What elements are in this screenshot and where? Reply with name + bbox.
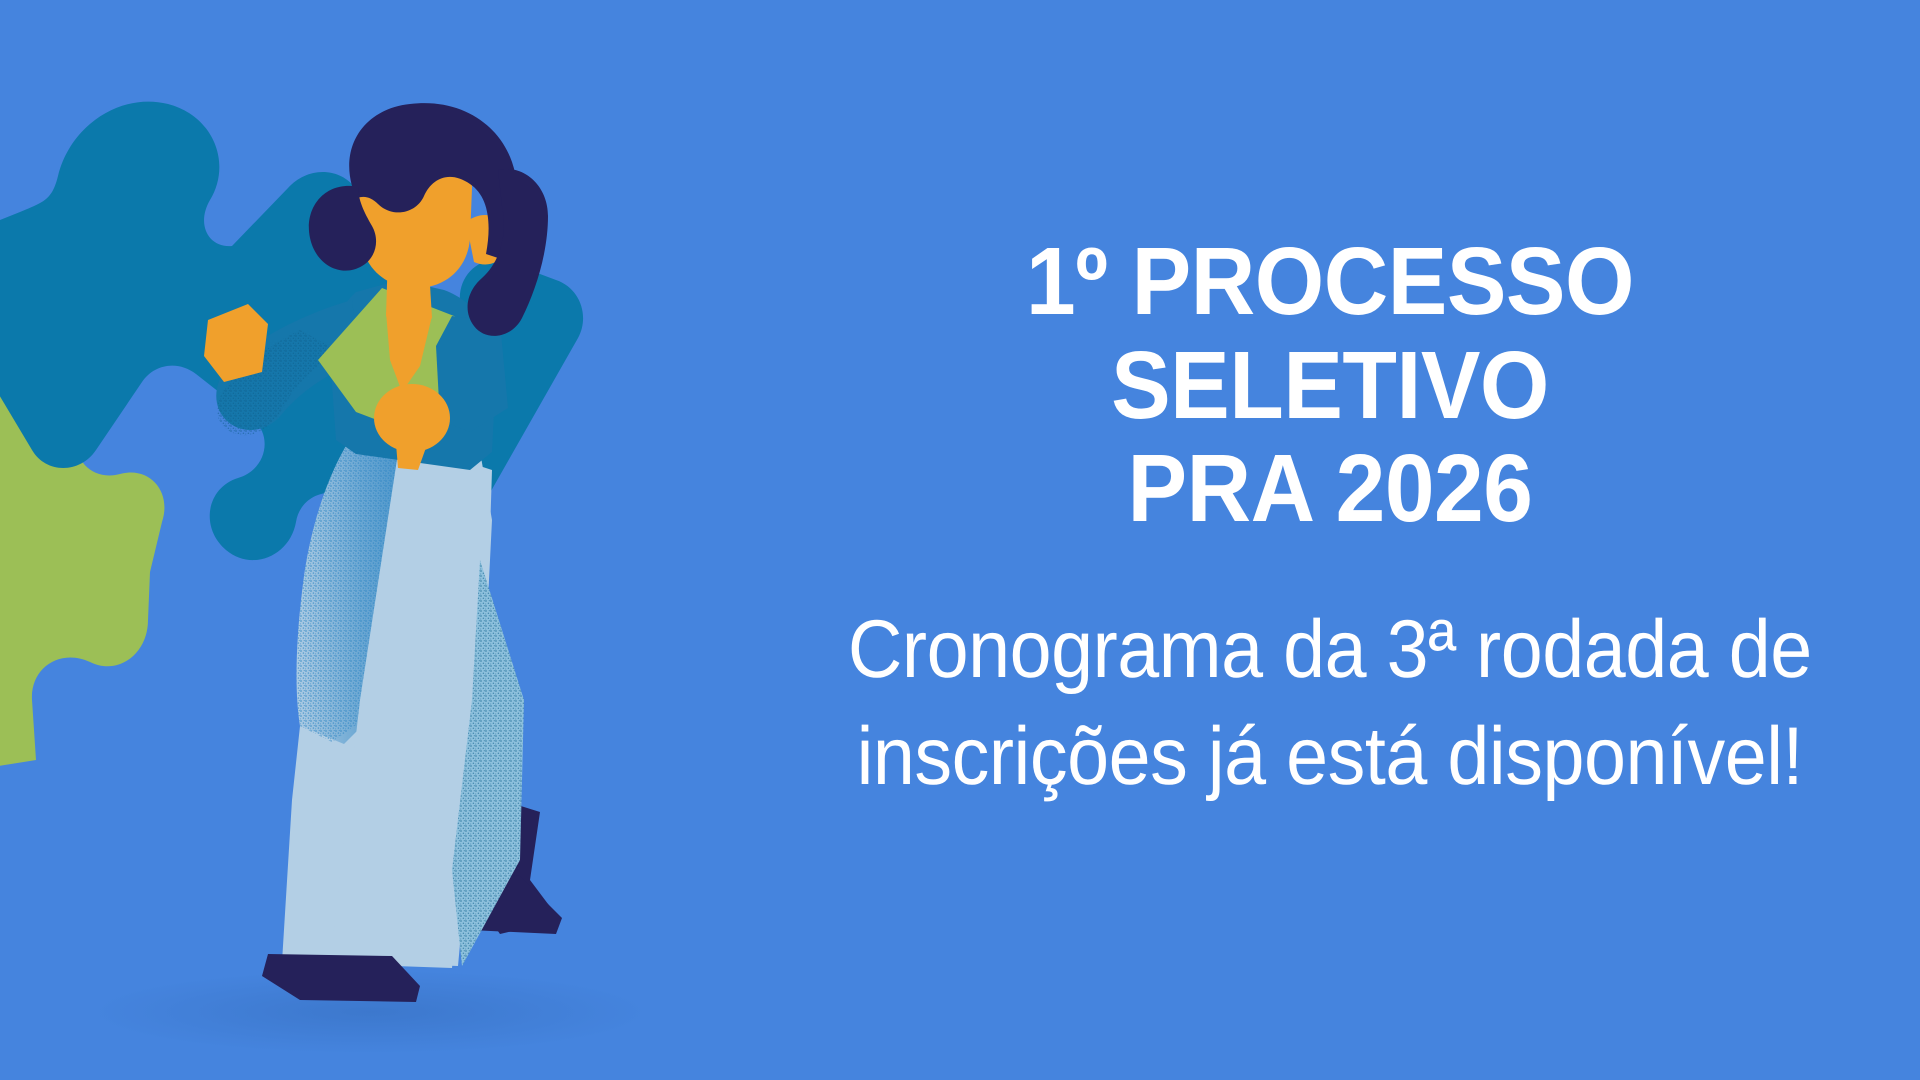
subheadline: Cronograma da 3ª rodada de inscrições já…: [848, 597, 1812, 810]
text-block: 1º PROCESSO SELETIVO PRA 2026 Cronograma…: [740, 0, 1920, 1080]
woman-right-hand: [374, 384, 450, 452]
headline: 1º PROCESSO SELETIVO PRA 2026: [809, 230, 1851, 541]
promo-banner: 1º PROCESSO SELETIVO PRA 2026 Cronograma…: [0, 0, 1920, 1080]
illustration: [0, 0, 760, 1080]
